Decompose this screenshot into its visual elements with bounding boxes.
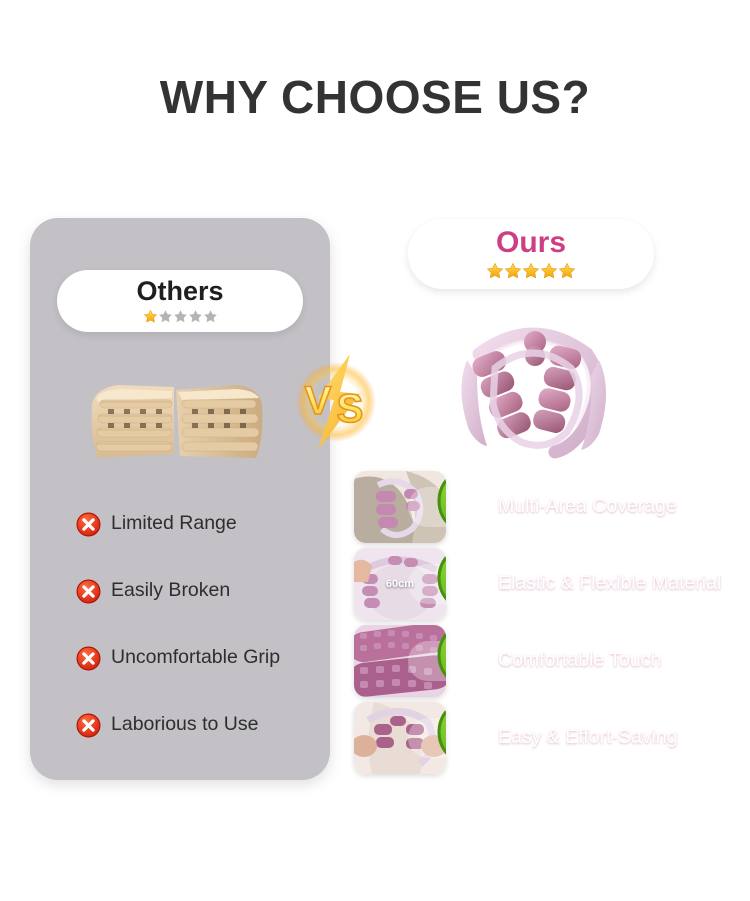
others-rating-stars [143,309,218,324]
cross-circle-icon [76,579,101,604]
star-icon [143,309,158,324]
list-item: Uncomfortable Grip [76,644,326,672]
ours-header-pill: Ours [408,219,654,289]
star-icon [522,262,540,280]
check-circle-icon [426,702,446,722]
list-item: Laborious to Use [76,711,326,739]
star-icon [188,309,203,324]
ours-feature-list: Multi-Area Coverage [340,468,722,776]
cross-circle-icon [76,512,101,537]
list-item: Multi-Area Coverage [340,468,722,545]
list-item: Easy & Effort-Saving [340,699,722,776]
list-item-label: Easily Broken [111,581,230,601]
star-icon [558,262,576,280]
others-product-image [78,368,278,473]
cross-circle-icon [76,713,101,738]
list-item-label: Uncomfortable Grip [111,648,280,668]
ours-product-image [443,312,623,460]
star-icon [504,262,522,280]
feature-thumbnail: 60cm [354,548,446,620]
check-circle-icon [426,625,446,645]
check-circle-icon [426,471,446,491]
list-item-label: Elastic & Flexible Material [498,574,721,594]
others-title: Others [136,278,223,305]
star-icon [540,262,558,280]
list-item: Limited Range [76,510,326,538]
list-item: Comfortable Touch [340,622,722,699]
list-item-label: Limited Range [111,514,237,534]
list-item-label: Comfortable Touch [498,651,661,671]
vs-badge: V S [288,352,384,452]
star-icon [486,262,504,280]
list-item-label: Laborious to Use [111,715,258,735]
list-item-label: Easy & Effort-Saving [498,728,678,748]
vs-label-text: V [305,379,332,423]
comparison-infographic: WHY CHOOSE US? Others [0,0,750,901]
ours-title: Ours [496,228,566,258]
list-item: 60cm Elastic & Flexible Material [340,545,722,622]
others-feature-list: Limited Range Easily Broken Uncomfortabl… [76,510,326,778]
star-icon [203,309,218,324]
check-circle-icon [426,548,446,568]
star-icon [173,309,188,324]
ours-rating-stars [486,262,576,280]
cross-circle-icon [76,646,101,671]
page-title: WHY CHOOSE US? [0,74,750,120]
svg-text:S: S [337,387,364,431]
star-icon [158,309,173,324]
feature-thumbnail [354,702,446,774]
list-item-label: Multi-Area Coverage [498,497,677,517]
feature-thumbnail [354,471,446,543]
feature-thumbnail [354,625,446,697]
others-header-pill: Others [57,270,303,332]
list-item: Easily Broken [76,577,326,605]
